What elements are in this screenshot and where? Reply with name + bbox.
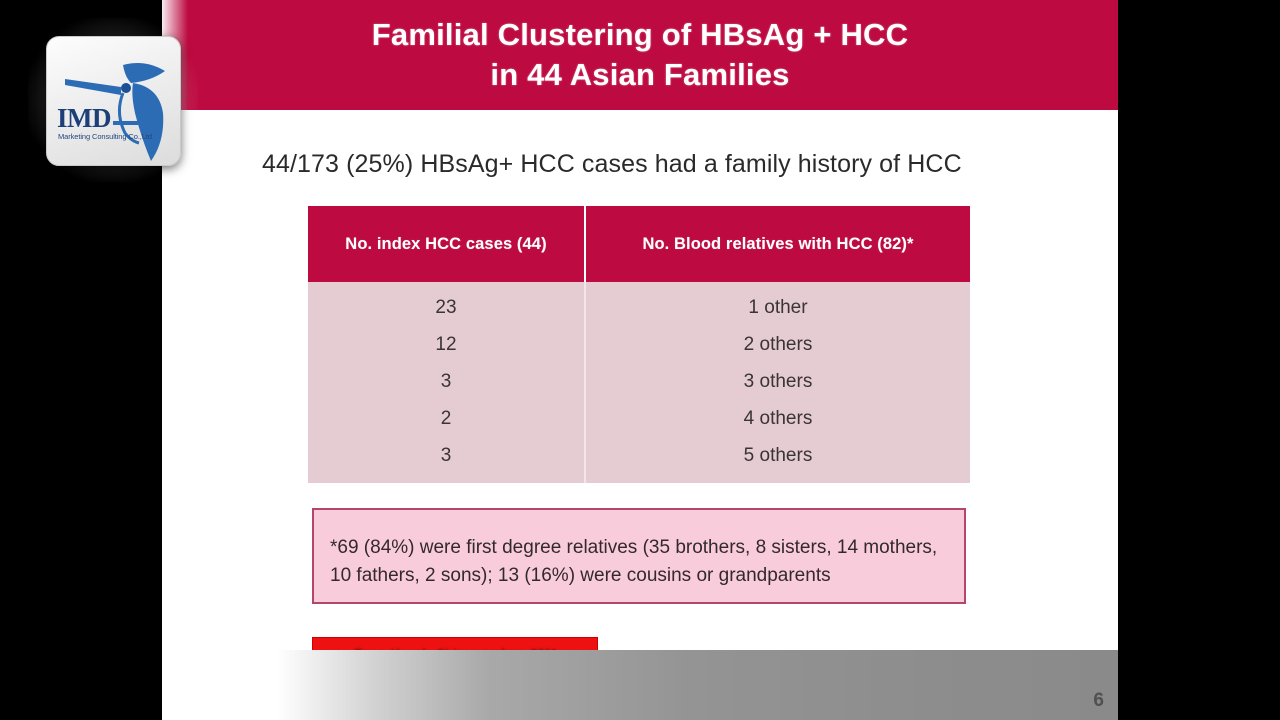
slide-page-number: 6 — [1093, 690, 1104, 712]
video-frame: Familial Clustering of HBsAg + HCC in 44… — [0, 0, 1280, 720]
imd-logo-badge[interactable]: IMD Marketing Consulting Co.,Ltd — [46, 36, 181, 166]
table-row: 3 3 others — [308, 363, 970, 400]
cell-index-cases: 23 — [308, 282, 585, 326]
table-row: 2 4 others — [308, 400, 970, 437]
footnote-text: *69 (84%) were first degree relatives (3… — [330, 534, 954, 590]
logo-tagline: Marketing Consulting Co.,Ltd — [58, 132, 152, 141]
cell-index-cases: 3 — [308, 363, 585, 400]
cell-index-cases: 2 — [308, 400, 585, 437]
familial-clustering-table: No. index HCC cases (44) No. Blood relat… — [308, 206, 970, 483]
table-header-blood-relatives: No. Blood relatives with HCC (82)* — [585, 206, 970, 282]
lead-statistic-text: 44/173 (25%) HBsAg+ HCC cases had a fami… — [262, 150, 1062, 179]
slide-title-line-1: Familial Clustering of HBsAg + HCC — [372, 17, 908, 52]
footnote-callout-box: *69 (84%) were first degree relatives (3… — [312, 508, 966, 604]
table-body: 23 1 other 12 2 others 3 3 others 2 4 ot… — [308, 282, 970, 483]
cell-blood-relatives: 5 others — [585, 437, 970, 483]
footnote-line-1: *69 (84%) were first degree relatives (3… — [330, 537, 937, 558]
footnote-line-2: 10 fathers, 2 sons); 13 (16%) were cousi… — [330, 562, 954, 590]
slide-title: Familial Clustering of HBsAg + HCC in 44… — [162, 15, 1118, 95]
slide-title-line-2: in 44 Asian Families — [162, 55, 1118, 95]
table-row: 3 5 others — [308, 437, 970, 483]
cell-index-cases: 12 — [308, 326, 585, 363]
cell-index-cases: 3 — [308, 437, 585, 483]
table-header-index-cases: No. index HCC cases (44) — [308, 206, 585, 282]
slide-title-banner: Familial Clustering of HBsAg + HCC in 44… — [162, 0, 1118, 110]
cell-blood-relatives: 2 others — [585, 326, 970, 363]
table-row: 12 2 others — [308, 326, 970, 363]
cell-blood-relatives: 4 others — [585, 400, 970, 437]
logo-wordmark: IMD — [57, 103, 111, 134]
cell-blood-relatives: 3 others — [585, 363, 970, 400]
table-head: No. index HCC cases (44) No. Blood relat… — [308, 206, 970, 282]
presentation-slide: Familial Clustering of HBsAg + HCC in 44… — [162, 0, 1118, 720]
table-header-row: No. index HCC cases (44) No. Blood relat… — [308, 206, 970, 282]
bottom-control-band — [162, 650, 1118, 720]
cell-blood-relatives: 1 other — [585, 282, 970, 326]
table-row: 23 1 other — [308, 282, 970, 326]
kingfisher-bird-icon — [47, 37, 180, 165]
